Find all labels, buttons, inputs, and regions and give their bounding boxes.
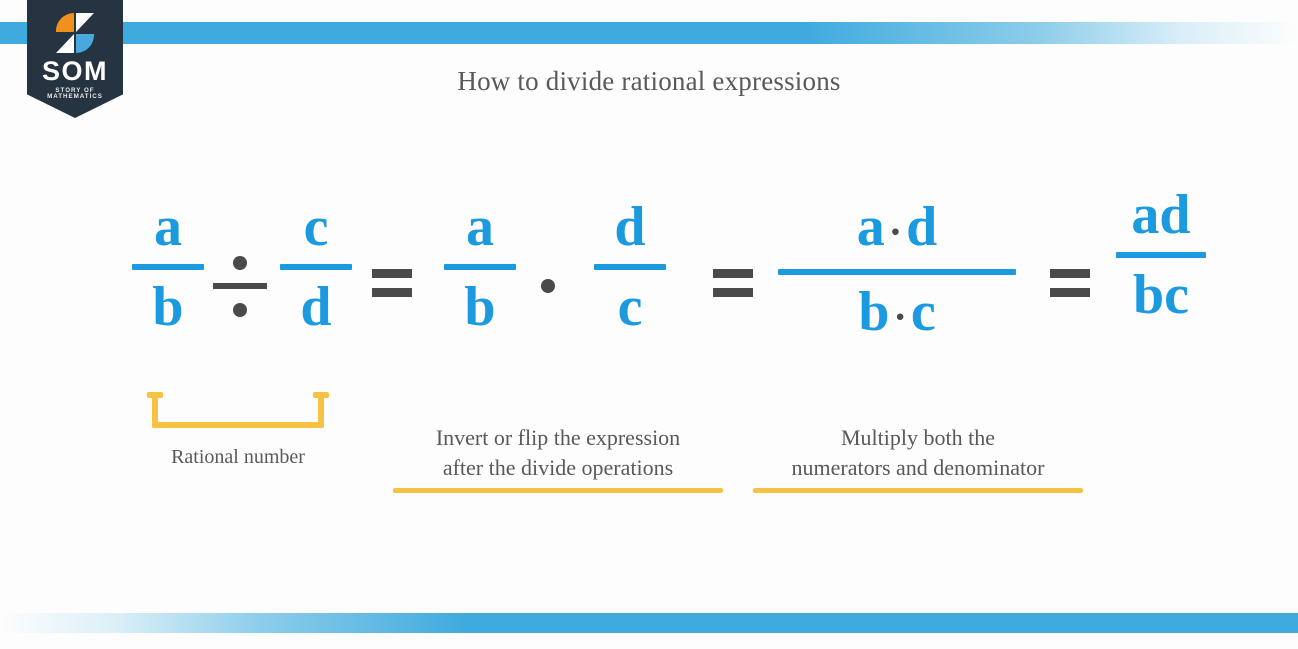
- denominator-b: b: [444, 276, 516, 338]
- result-numerator-ad: ad: [1116, 184, 1206, 246]
- fraction-ad-over-bc-result: ad bc: [1116, 184, 1206, 326]
- divide-bar: [213, 283, 267, 289]
- numerator-a-dot-d: a·d: [778, 196, 1016, 263]
- numerator-d: d: [594, 196, 666, 258]
- fraction-c-over-d-step1: c d: [280, 196, 352, 338]
- som-logo-banner: SOM STORY OF MATHEMATICS: [27, 0, 123, 118]
- multiply-annotation: Multiply both the numerators and denomin…: [753, 423, 1083, 493]
- multiply-dot-icon-3: ·: [889, 294, 910, 339]
- numerator-d: d: [906, 196, 937, 258]
- denominator-c: c: [911, 281, 936, 343]
- fraction-bar: [444, 264, 516, 270]
- invert-annotation-underline: [393, 488, 723, 493]
- brace-right-tick: [313, 392, 329, 398]
- page-title: How to divide rational expressions: [0, 66, 1298, 97]
- multiply-annotation-line1: Multiply both the: [841, 425, 995, 450]
- rational-number-brace: [152, 392, 324, 428]
- top-accent-bar: [0, 22, 1298, 44]
- denominator-c: c: [594, 276, 666, 338]
- multiply-dot-icon-2: ·: [885, 209, 906, 254]
- multiply-dot-icon-1: [541, 279, 555, 293]
- divide-operator-icon: [213, 248, 267, 324]
- invert-annotation: Invert or flip the expression after the …: [393, 423, 723, 493]
- equals-sign-2: [713, 269, 753, 301]
- fraction-d-over-c-step2: d c: [594, 196, 666, 338]
- som-s-monogram-icon: [55, 12, 95, 54]
- equals-sign-1: [372, 269, 412, 301]
- fraction-ad-over-bc-expanded: a·d b·c: [778, 196, 1016, 348]
- divide-dot-top: [233, 256, 247, 270]
- numerator-a: a: [132, 196, 204, 258]
- fraction-bar: [1116, 252, 1206, 258]
- denominator-b: b: [858, 281, 889, 343]
- rational-number-label: Rational number: [138, 442, 338, 472]
- fraction-bar: [778, 269, 1016, 275]
- fraction-a-over-b-step2: a b: [444, 196, 516, 338]
- fraction-a-over-b-step1: a b: [132, 196, 204, 338]
- fraction-bar: [280, 264, 352, 270]
- denominator-b: b: [132, 276, 204, 338]
- divide-dot-bottom: [233, 303, 247, 317]
- numerator-a: a: [444, 196, 516, 258]
- numerator-c: c: [280, 196, 352, 258]
- multiply-annotation-underline: [753, 488, 1083, 493]
- bottom-accent-bar: [0, 613, 1298, 633]
- invert-annotation-line1: Invert or flip the expression: [436, 425, 680, 450]
- denominator-d: d: [280, 276, 352, 338]
- denominator-b-dot-c: b·c: [778, 281, 1016, 348]
- numerator-a: a: [857, 196, 885, 258]
- equation-row: a b c d a b d c: [0, 196, 1298, 376]
- brace-left-tick: [147, 392, 163, 398]
- fraction-bar: [132, 264, 204, 270]
- fraction-bar: [594, 264, 666, 270]
- result-denominator-bc: bc: [1116, 264, 1206, 326]
- slide-canvas: SOM STORY OF MATHEMATICS How to divide r…: [0, 0, 1298, 649]
- multiply-annotation-line2: numerators and denominator: [792, 455, 1045, 480]
- invert-annotation-line2: after the divide operations: [443, 455, 673, 480]
- brace-base: [152, 422, 324, 428]
- equals-sign-3: [1050, 269, 1090, 301]
